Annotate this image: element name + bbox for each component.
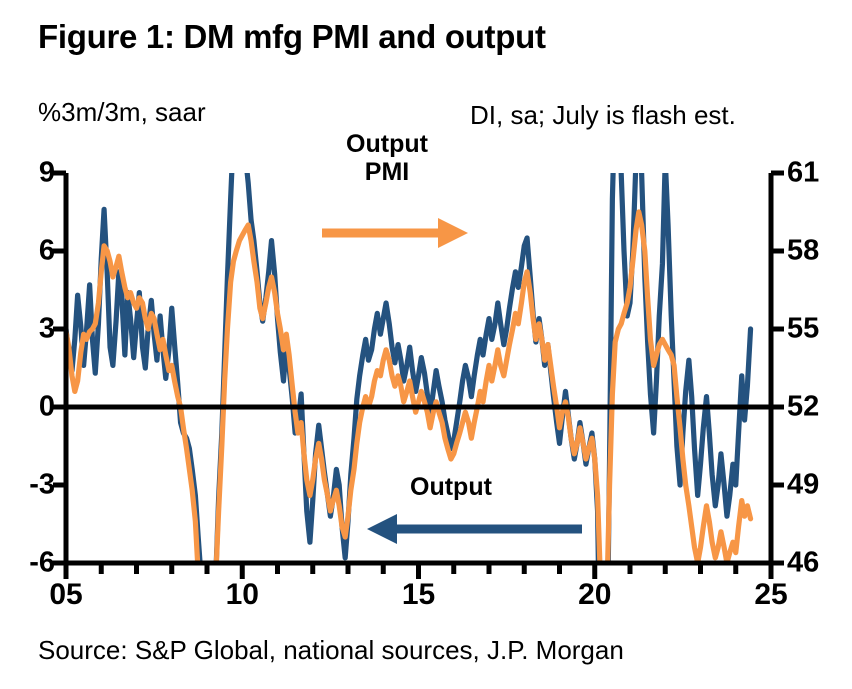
arrow-to-right-axis-icon — [322, 218, 468, 248]
arrow-to-left-axis-icon-head — [367, 514, 397, 544]
figure-container: Figure 1: DM mfg PMI and output %3m/3m, … — [0, 0, 852, 689]
chart-plot-area — [0, 0, 852, 689]
series-line-output-pmi — [66, 212, 751, 689]
arrow-to-left-axis-icon — [367, 514, 582, 544]
source-note: Source: S&P Global, national sources, J.… — [38, 635, 624, 666]
series-group — [66, 95, 751, 689]
arrow-to-right-axis-icon-head — [438, 218, 468, 248]
